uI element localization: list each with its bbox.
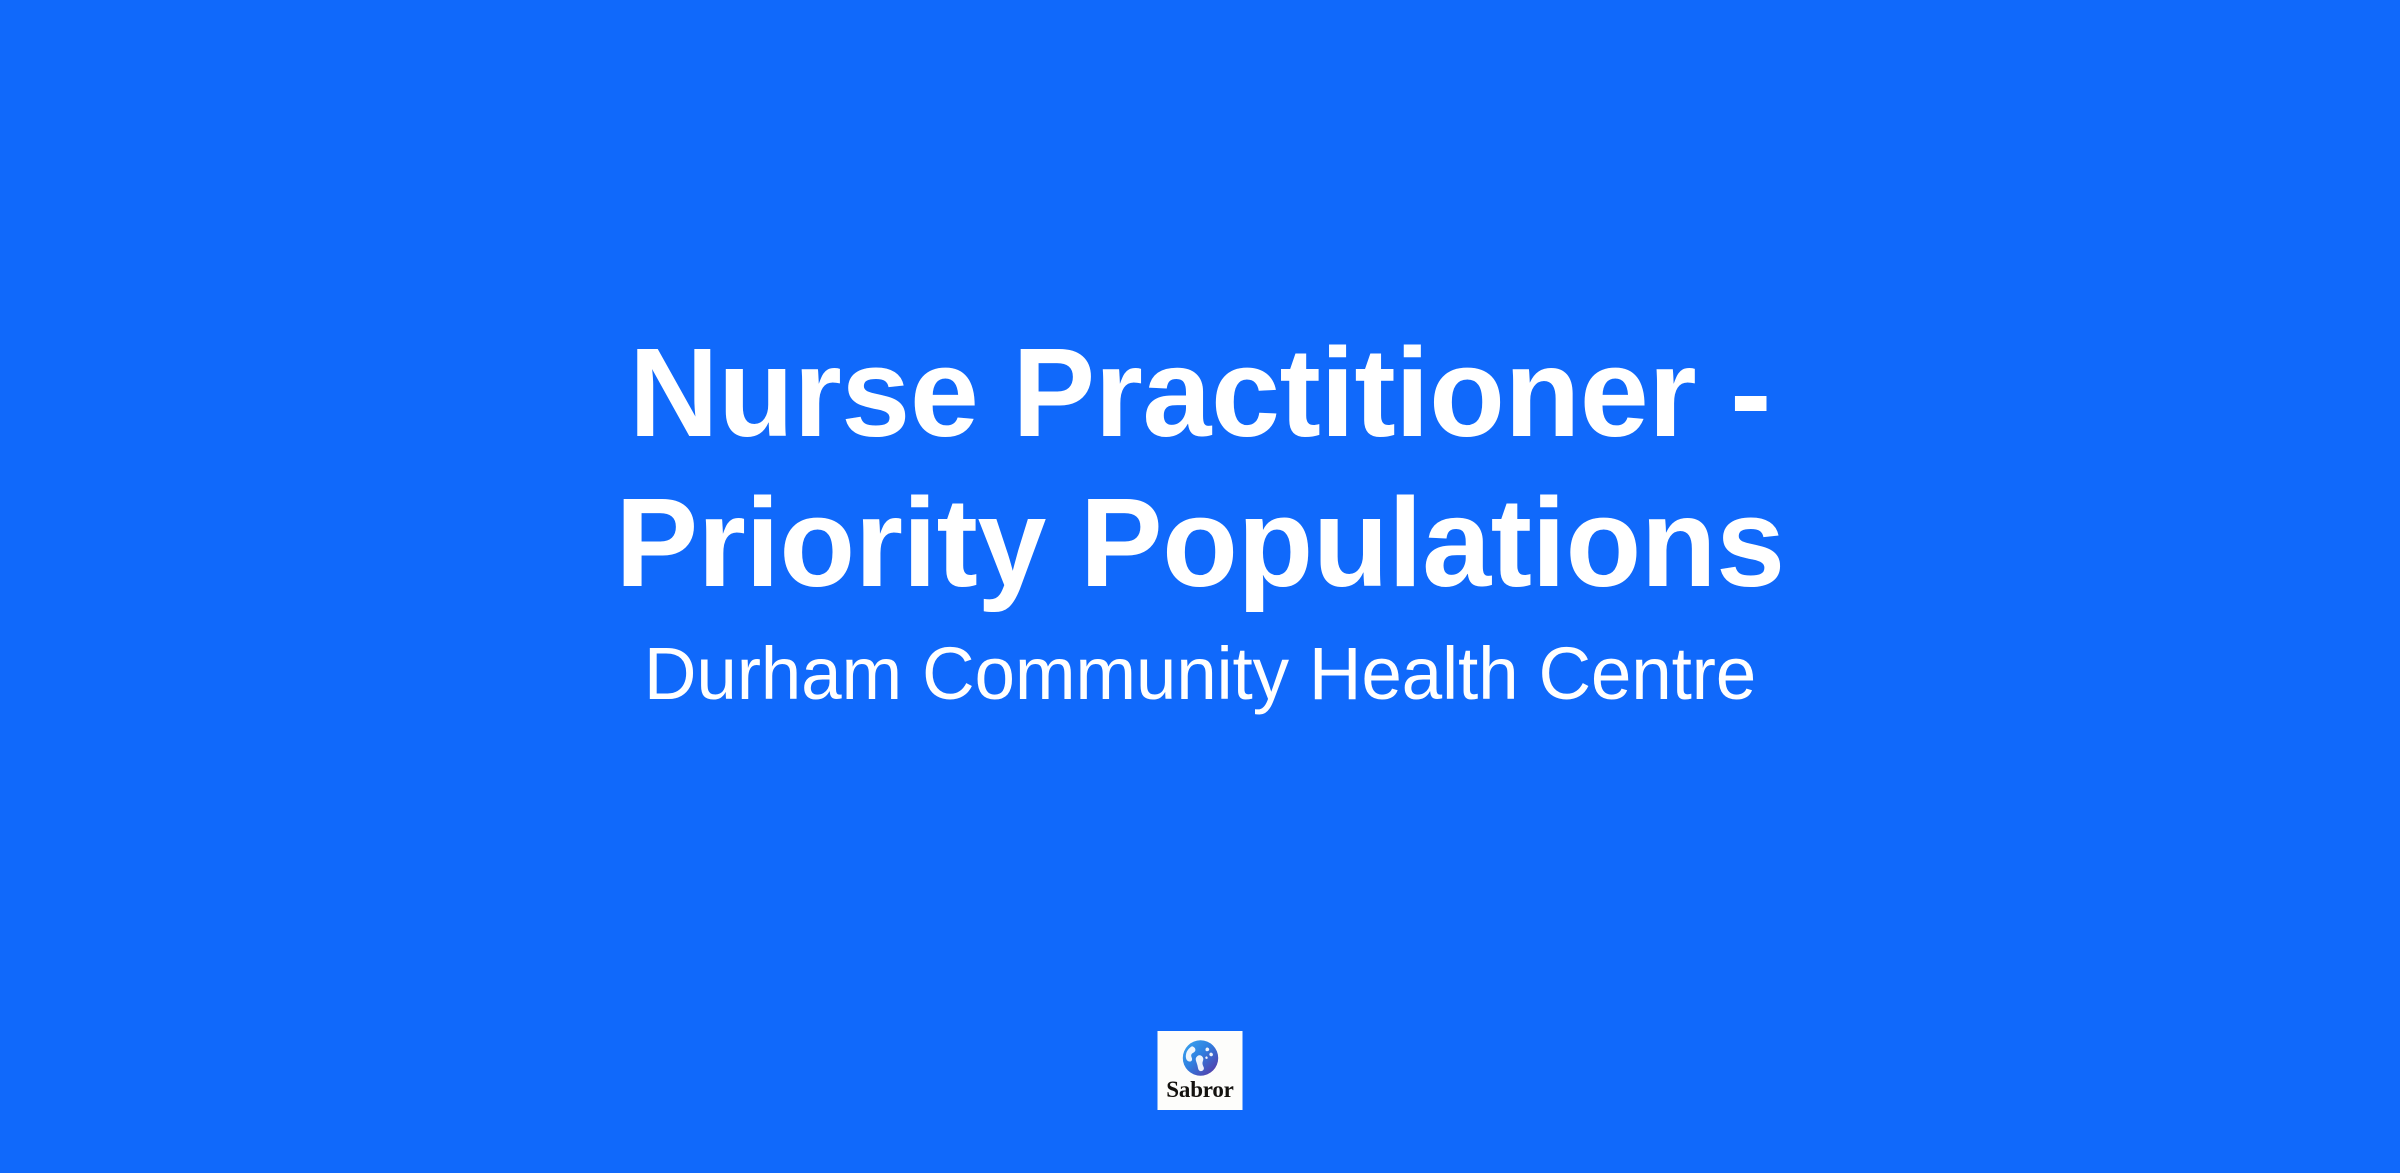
- slide-subtitle: Durham Community Health Centre: [264, 626, 2136, 722]
- presentation-title-slide: Nurse Practitioner - Priority Population…: [0, 0, 2400, 1173]
- brand-name: Sabror: [1166, 1077, 1233, 1103]
- globe-americas-icon: [1179, 1037, 1221, 1079]
- slide-title-block: Nurse Practitioner - Priority Population…: [0, 0, 2400, 1173]
- page-title: Nurse Practitioner - Priority Population…: [432, 318, 1969, 618]
- brand-badge: Sabror: [1158, 1031, 1243, 1110]
